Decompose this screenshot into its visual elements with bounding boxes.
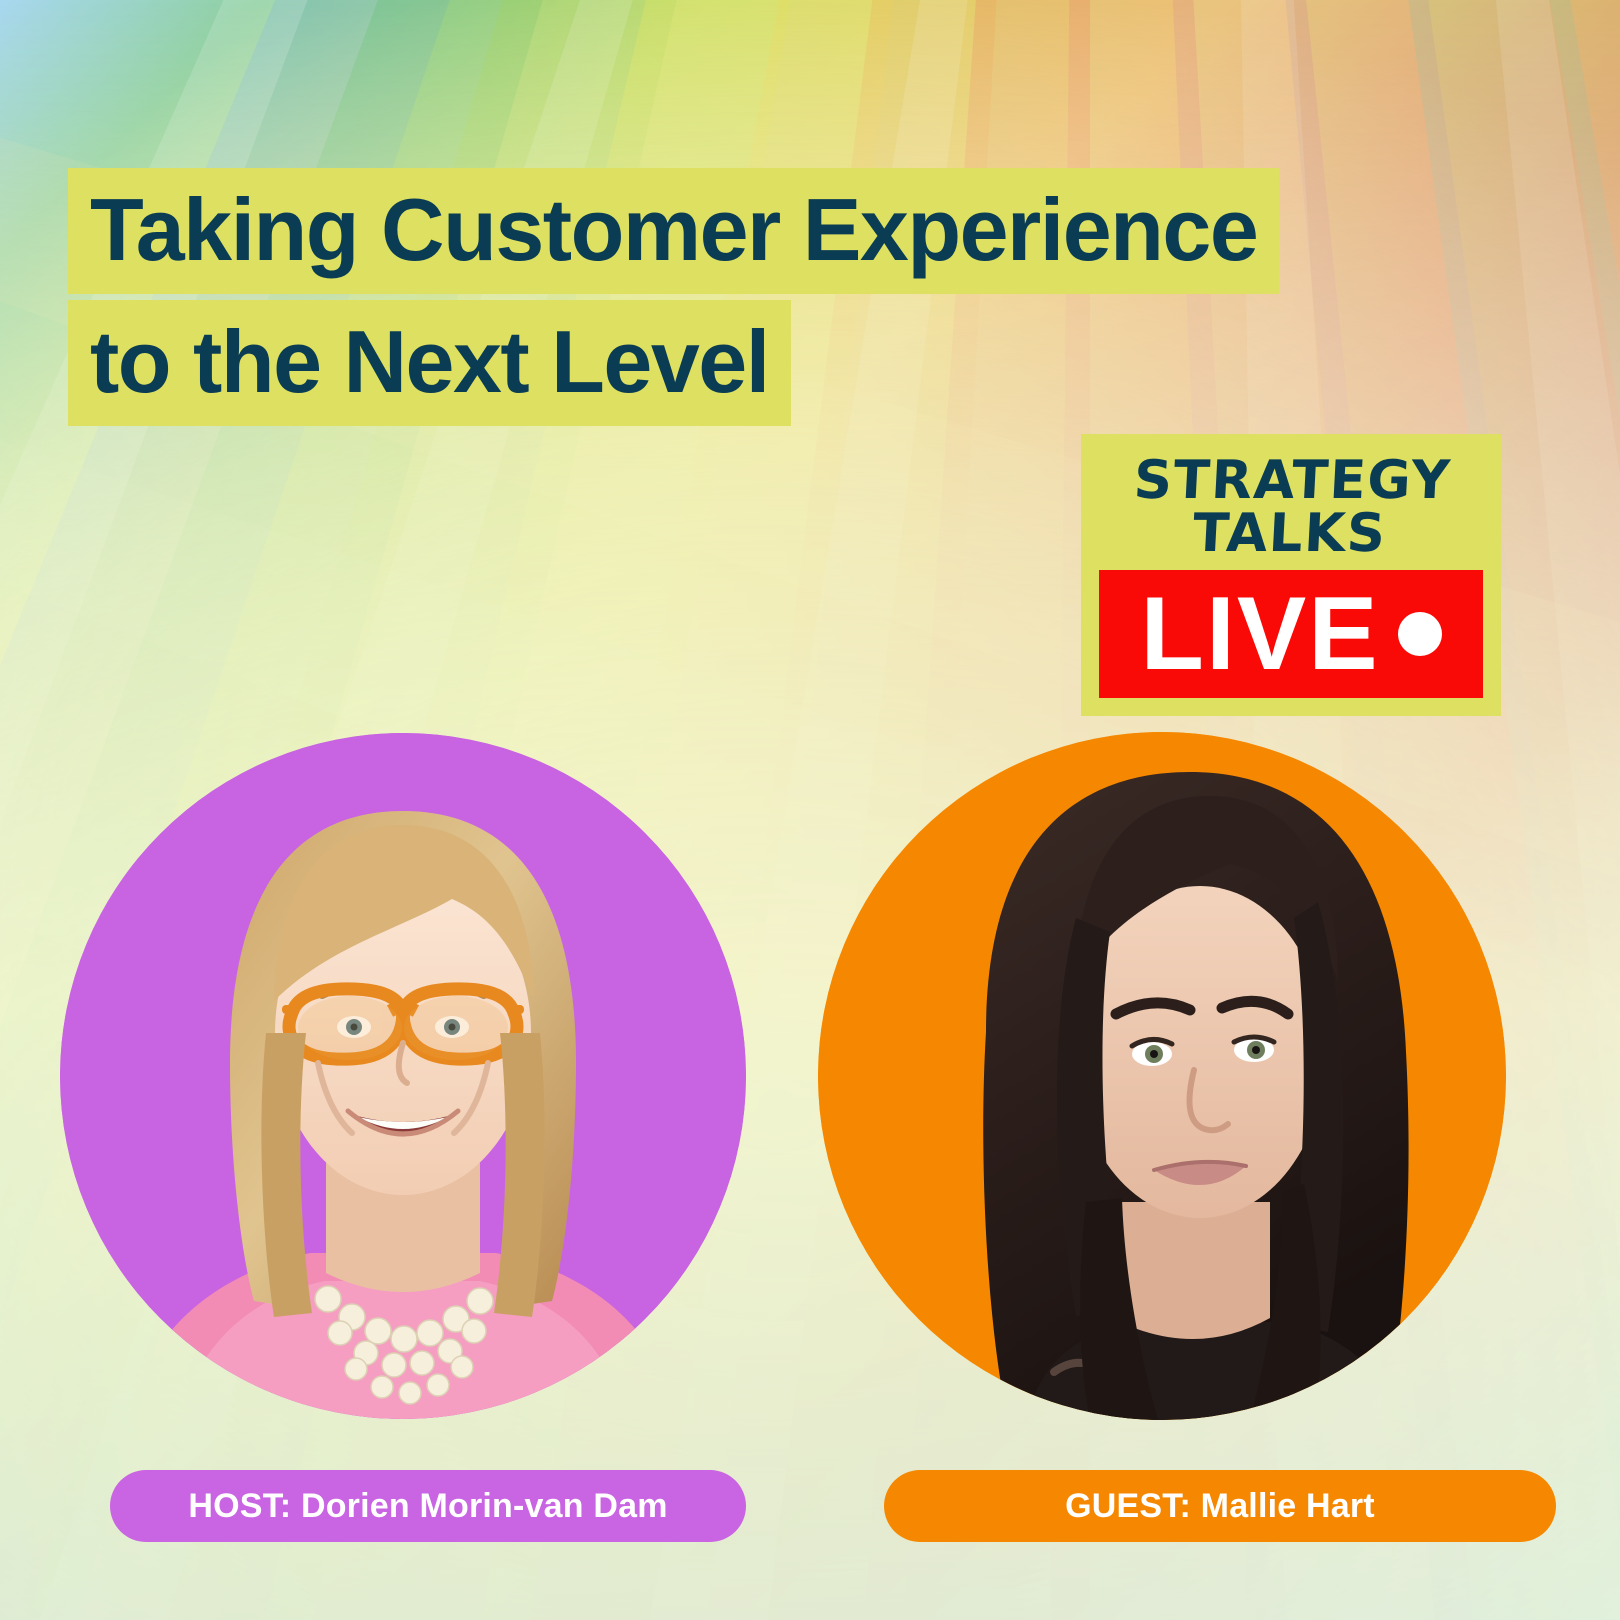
title-line-2: to the Next Level — [68, 300, 791, 426]
host-portrait — [60, 733, 746, 1419]
live-bar: LIVE — [1099, 570, 1483, 698]
record-dot-icon — [1398, 612, 1442, 656]
host-name-label: HOST: Dorien Morin-van Dam — [188, 1487, 667, 1526]
guest-photo-circle — [818, 732, 1506, 1420]
promo-graphic: Taking Customer Experience to the Next L… — [0, 0, 1620, 1620]
host-name-pill: HOST: Dorien Morin-van Dam — [110, 1470, 746, 1542]
guest-portrait — [818, 732, 1506, 1420]
strategy-talks-live-badge: STRATEGY TALKS LIVE — [1081, 434, 1501, 716]
title-line-1: Taking Customer Experience — [68, 168, 1279, 294]
show-name-label: STRATEGY TALKS — [1078, 448, 1504, 570]
live-label: LIVE — [1140, 582, 1379, 686]
guest-name-label: GUEST: Mallie Hart — [1065, 1487, 1375, 1526]
title-block: Taking Customer Experience to the Next L… — [68, 168, 1279, 426]
guest-name-pill: GUEST: Mallie Hart — [884, 1470, 1556, 1542]
host-photo-circle — [60, 733, 746, 1419]
